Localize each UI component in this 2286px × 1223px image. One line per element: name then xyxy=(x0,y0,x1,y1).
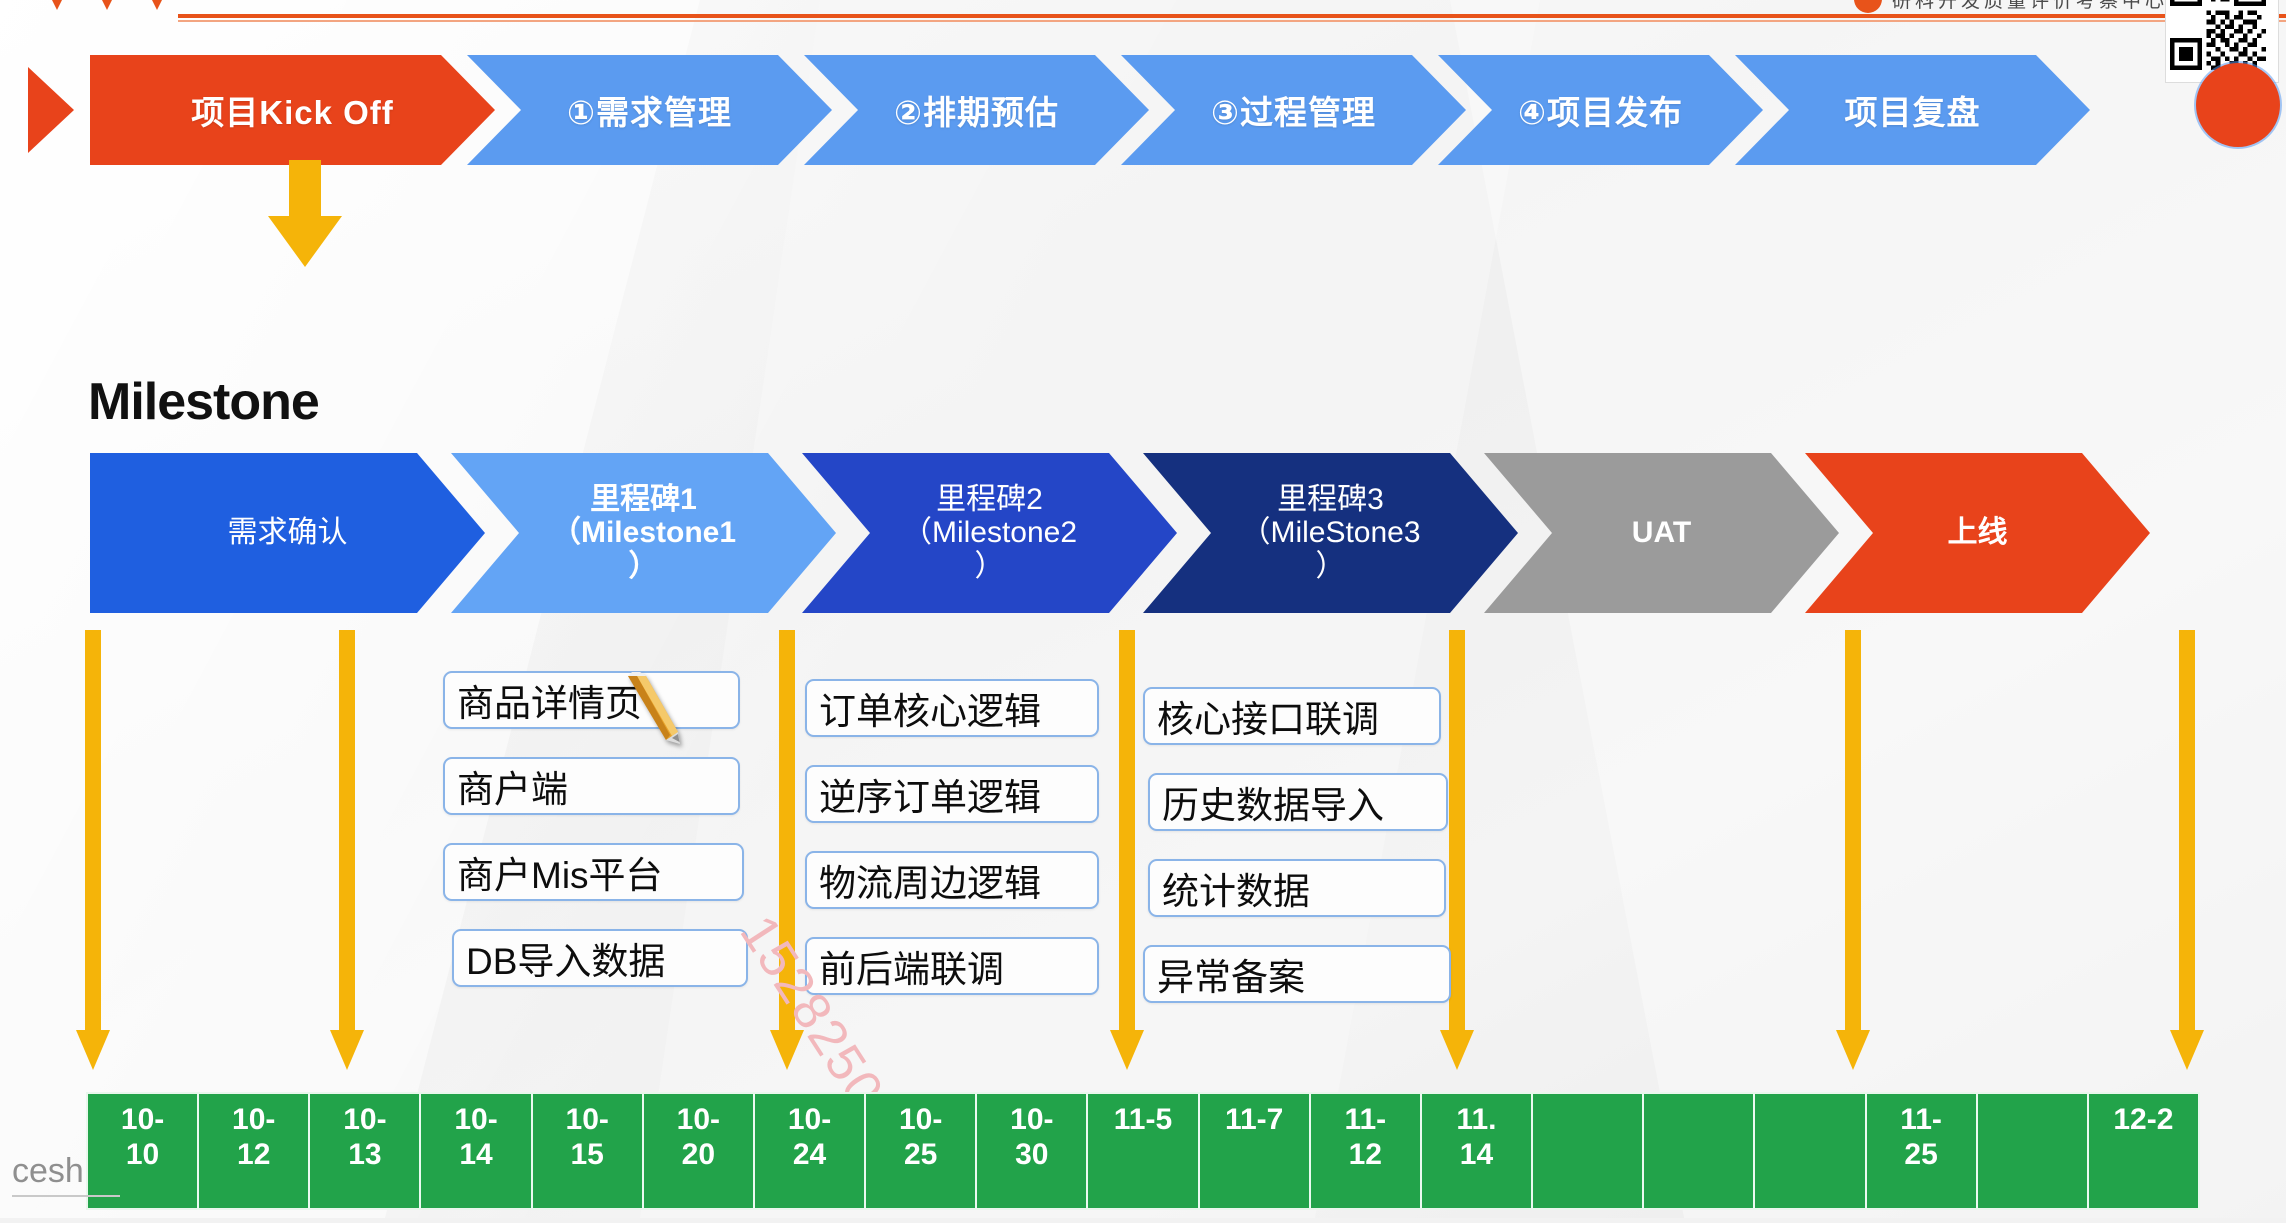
brand-text: 研科开发质量评价考察中心 xyxy=(1892,0,2168,13)
timeline-date-label: 10- 10 xyxy=(121,1102,164,1173)
timeline-date-label: 10- 30 xyxy=(1010,1102,1053,1173)
milestone-phase-uat[interactable]: UAT xyxy=(1484,453,1839,613)
brand-lockup: 研科开发质量评价考察中心 xyxy=(1854,0,2168,14)
brand-mark-icon xyxy=(1854,0,1882,13)
timeline-cell[interactable]: 10- 12 xyxy=(199,1094,310,1208)
task-box[interactable]: 逆序订单逻辑 xyxy=(805,765,1099,823)
arrow-stem xyxy=(1119,630,1135,1032)
task-box[interactable]: 商户端 xyxy=(443,757,740,815)
milestone-phase-label: 需求确认 xyxy=(218,516,358,550)
process-step-retrospective[interactable]: 项目复盘 xyxy=(1735,55,2090,165)
arrow-head xyxy=(770,1030,804,1070)
task-box[interactable]: 前后端联调 xyxy=(805,937,1099,995)
task-box[interactable]: 历史数据导入 xyxy=(1148,773,1448,831)
header-rule-secondary xyxy=(178,20,2286,22)
milestone-phase-label: 里程碑3 （MileStone3 ） xyxy=(1230,483,1430,584)
process-step-label: ①需求管理 xyxy=(567,86,732,134)
arrow-head xyxy=(2170,1030,2204,1070)
diamond-icon xyxy=(96,0,118,10)
timeline-cell[interactable]: 10- 15 xyxy=(533,1094,644,1208)
slide-canvas: 研科开发质量评价考察中心 xyxy=(0,0,2286,1218)
timeline-connector-arrow-7 xyxy=(2170,630,2204,1070)
milestone-phase-milestone2[interactable]: 里程碑2 （Milestone2 ） xyxy=(802,453,1177,613)
task-box[interactable]: DB导入数据 xyxy=(452,929,748,987)
task-box[interactable]: 订单核心逻辑 xyxy=(805,679,1099,737)
arrow-stem xyxy=(339,630,355,1032)
timeline-date-label: 11. 14 xyxy=(1456,1102,1496,1173)
timeline-connector-arrow-4 xyxy=(1110,630,1144,1070)
arrow-stem xyxy=(1449,630,1465,1032)
timeline-date-label: 11- 25 xyxy=(1900,1102,1942,1173)
process-step-label: 项目Kick Off xyxy=(191,86,394,134)
timeline-cell[interactable]: 11-7 xyxy=(1200,1094,1311,1208)
timeline-cell[interactable]: 10- 14 xyxy=(421,1094,532,1208)
milestone-phase-label: 上线 xyxy=(1938,516,2018,550)
diamond-icon xyxy=(46,0,68,10)
timeline-date-label: 10- 25 xyxy=(899,1102,942,1173)
arrow-head xyxy=(268,216,342,267)
process-step-label: ③过程管理 xyxy=(1211,86,1376,134)
milestone-title: Milestone xyxy=(88,372,319,432)
header-rule xyxy=(178,14,2286,18)
timeline-cell[interactable]: 10- 24 xyxy=(755,1094,866,1208)
timeline-connector-arrow-2 xyxy=(330,630,364,1070)
process-step-scheduling[interactable]: ②排期预估 xyxy=(804,55,1149,165)
arrow-head xyxy=(1836,1030,1870,1070)
corner-label: cesh xyxy=(12,1152,84,1191)
arrow-head xyxy=(1110,1030,1144,1070)
timeline-cell[interactable]: 10- 30 xyxy=(977,1094,1088,1208)
timeline-cell[interactable]: 10- 10 xyxy=(88,1094,199,1208)
timeline-cell[interactable] xyxy=(1755,1094,1866,1208)
timeline-connector-arrow-3 xyxy=(770,630,804,1070)
pencil-cursor-icon xyxy=(620,672,686,746)
diamond-icon xyxy=(146,0,168,10)
arrow-stem xyxy=(2179,630,2195,1032)
milestone-phase-milestone1[interactable]: 里程碑1 （Milestone1 ） xyxy=(451,453,836,613)
timeline-cell[interactable] xyxy=(1978,1094,2089,1208)
kickoff-down-arrow-icon xyxy=(268,160,342,267)
process-step-release[interactable]: ④项目发布 xyxy=(1438,55,1763,165)
timeline-cell[interactable]: 11. 14 xyxy=(1422,1094,1533,1208)
process-step-label: ②排期预估 xyxy=(894,86,1059,134)
process-step-kickoff[interactable]: 项目Kick Off xyxy=(90,55,495,165)
timeline-date-label: 10- 24 xyxy=(788,1102,831,1173)
milestone-phase-requirement-confirm[interactable]: 需求确认 xyxy=(90,453,485,613)
timeline-date-label: 10- 14 xyxy=(454,1102,497,1173)
task-box[interactable]: 商户Mis平台 xyxy=(443,843,744,901)
milestone-phase-milestone3[interactable]: 里程碑3 （MileStone3 ） xyxy=(1143,453,1518,613)
timeline-date-label: 11-5 xyxy=(1114,1102,1172,1137)
milestone-phase-label: 里程碑1 （Milestone1 ） xyxy=(541,483,746,584)
timeline-date-label: 10- 13 xyxy=(343,1102,386,1173)
timeline-cell[interactable]: 11-5 xyxy=(1088,1094,1199,1208)
task-box[interactable]: 异常备案 xyxy=(1143,945,1451,1003)
arrow-stem xyxy=(289,160,321,222)
milestone-phase-label: UAT xyxy=(1622,516,1701,550)
milestone-phase-golive[interactable]: 上线 xyxy=(1805,453,2150,613)
arrow-head xyxy=(330,1030,364,1070)
process-step-requirements[interactable]: ①需求管理 xyxy=(467,55,832,165)
timeline-connector-arrow-5 xyxy=(1440,630,1474,1070)
header-diamond-decor xyxy=(46,0,186,14)
milestone-phase-label: 里程碑2 （Milestone2 ） xyxy=(892,483,1087,584)
task-box[interactable]: 物流周边逻辑 xyxy=(805,851,1099,909)
timeline-date-label: 11-7 xyxy=(1225,1102,1283,1137)
date-timeline: 10- 10 10- 12 10- 13 10- 14 10- 15 10- 2… xyxy=(86,1092,2200,1210)
timeline-cell[interactable]: 10- 13 xyxy=(310,1094,421,1208)
timeline-cell[interactable]: 10- 25 xyxy=(866,1094,977,1208)
arrow-head xyxy=(1440,1030,1474,1070)
timeline-cell[interactable] xyxy=(1533,1094,1644,1208)
arrow-stem xyxy=(85,630,101,1032)
task-box[interactable]: 统计数据 xyxy=(1148,859,1446,917)
timeline-cell[interactable]: 12-2 xyxy=(2089,1094,2198,1208)
timeline-cell[interactable]: 11- 12 xyxy=(1311,1094,1422,1208)
timeline-connector-arrow-1 xyxy=(76,630,110,1070)
process-step-label: ④项目发布 xyxy=(1518,86,1683,134)
process-step-label: 项目复盘 xyxy=(1845,86,1981,134)
process-flow: 项目Kick Off ①需求管理 ②排期预估 ③过程管理 ④项目发布 项目复盘 xyxy=(90,55,2200,165)
process-step-process-mgmt[interactable]: ③过程管理 xyxy=(1121,55,1466,165)
timeline-date-label: 10- 12 xyxy=(232,1102,275,1173)
timeline-connector-arrow-6 xyxy=(1836,630,1870,1070)
arrow-stem xyxy=(1845,630,1861,1032)
timeline-cell[interactable] xyxy=(1644,1094,1755,1208)
timeline-date-label: 10- 15 xyxy=(566,1102,609,1173)
task-box[interactable]: 商品详情页 xyxy=(443,671,740,729)
task-box[interactable]: 核心接口联调 xyxy=(1143,687,1441,745)
arrow-head xyxy=(76,1030,110,1070)
arrow-stem xyxy=(779,630,795,1032)
end-circle-icon xyxy=(2196,63,2280,147)
timeline-cell[interactable]: 11- 25 xyxy=(1867,1094,1978,1208)
process-step-row: 项目Kick Off ①需求管理 ②排期预估 ③过程管理 ④项目发布 项目复盘 xyxy=(90,55,2172,165)
timeline-cell[interactable]: 10- 20 xyxy=(644,1094,755,1208)
timeline-date-label: 10- 20 xyxy=(677,1102,720,1173)
milestone-band: 需求确认 里程碑1 （Milestone1 ） 里程碑2 （Milestone2… xyxy=(90,453,2200,613)
timeline-date-label: 12-2 xyxy=(2113,1102,2173,1137)
timeline-date-label: 11- 12 xyxy=(1344,1102,1386,1173)
